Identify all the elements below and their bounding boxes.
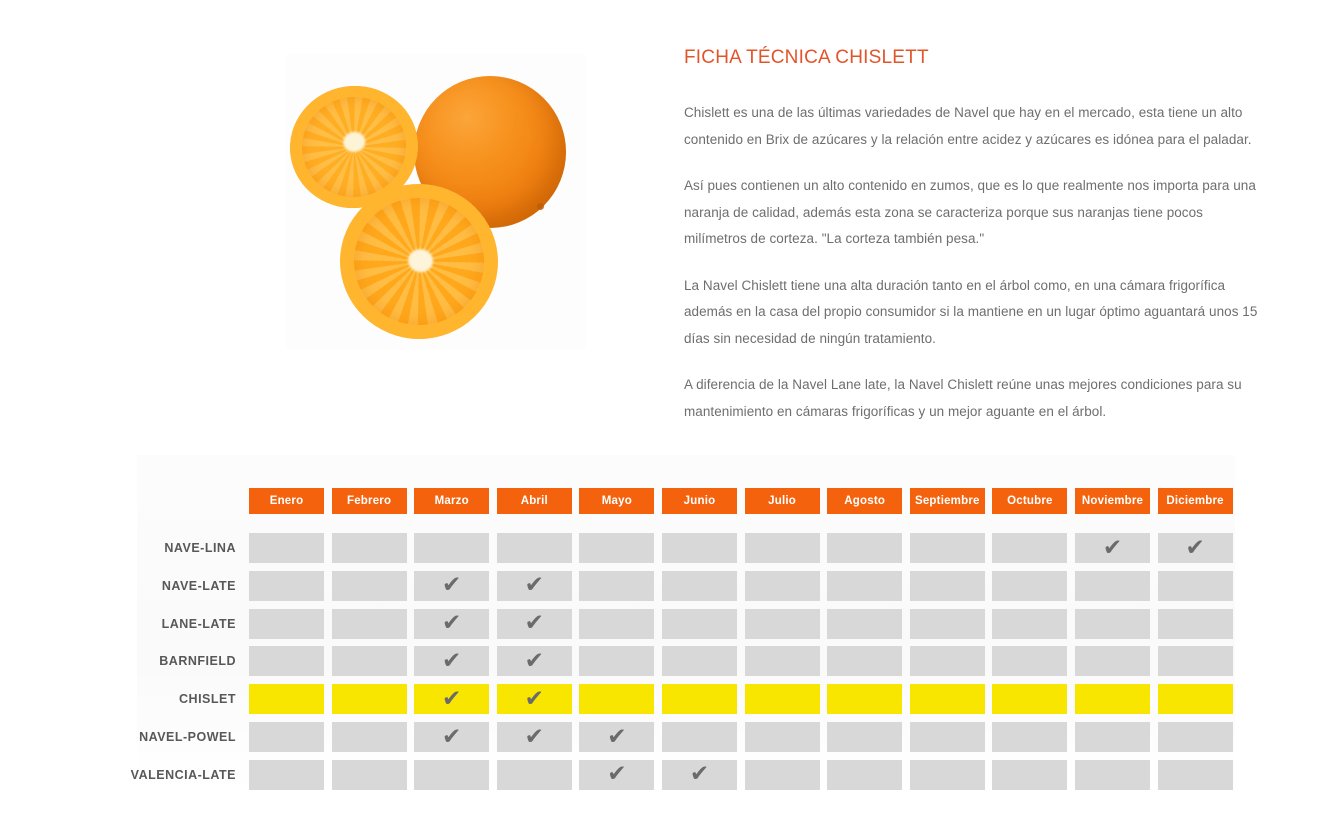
calendar-cell-valencia-late-noviembre[interactable] bbox=[1075, 760, 1150, 790]
calendar-cell-lane-late-diciembre[interactable] bbox=[1158, 609, 1233, 639]
calendar-cell-nave-late-octubre[interactable] bbox=[992, 571, 1067, 601]
month-header-marzo[interactable]: Marzo bbox=[414, 488, 489, 514]
calendar-cell-lane-late-julio[interactable] bbox=[745, 609, 820, 639]
calendar-cell-valencia-late-febrero[interactable] bbox=[332, 760, 407, 790]
calendar-cell-nave-late-abril[interactable]: ✔ bbox=[497, 571, 572, 601]
calendar-cell-nave-lina-noviembre[interactable]: ✔ bbox=[1075, 533, 1150, 563]
calendar-cell-barnfield-septiembre[interactable] bbox=[910, 646, 985, 676]
calendar-cell-nave-late-noviembre[interactable] bbox=[1075, 571, 1150, 601]
calendar-cell-lane-late-octubre[interactable] bbox=[992, 609, 1067, 639]
check-icon: ✔ bbox=[525, 612, 544, 635]
article-paragraph-1: Chislett es una de las últimas variedade… bbox=[684, 100, 1259, 153]
calendar-cell-barnfield-noviembre[interactable] bbox=[1075, 646, 1150, 676]
article-paragraph-4: A diferencia de la Navel Lane late, la N… bbox=[684, 372, 1259, 425]
check-icon: ✔ bbox=[442, 612, 461, 635]
calendar-cell-barnfield-octubre[interactable] bbox=[992, 646, 1067, 676]
variety-label-chislet: CHISLET bbox=[0, 684, 243, 714]
calendar-cell-lane-late-septiembre[interactable] bbox=[910, 609, 985, 639]
variety-label-lane-late: LANE-LATE bbox=[0, 609, 243, 639]
calendar-cell-navel-powel-septiembre[interactable] bbox=[910, 722, 985, 752]
check-icon: ✔ bbox=[442, 688, 461, 711]
calendar-cell-chislet-abril[interactable]: ✔ bbox=[497, 684, 572, 714]
calendar-cell-nave-late-marzo[interactable]: ✔ bbox=[414, 571, 489, 601]
calendar-cell-nave-lina-abril[interactable] bbox=[497, 533, 572, 563]
calendar-cell-nave-lina-marzo[interactable] bbox=[414, 533, 489, 563]
variety-label-nave-lina: NAVE-LINA bbox=[0, 533, 243, 563]
calendar-cell-valencia-late-abril[interactable] bbox=[497, 760, 572, 790]
calendar-cell-chislet-julio[interactable] bbox=[745, 684, 820, 714]
check-icon: ✔ bbox=[525, 574, 544, 597]
calendar-cell-barnfield-marzo[interactable]: ✔ bbox=[414, 646, 489, 676]
variety-label-valencia-late: VALENCIA-LATE bbox=[0, 760, 243, 790]
orange-fruit-image bbox=[286, 54, 586, 349]
calendar-cell-nave-lina-agosto[interactable] bbox=[827, 533, 902, 563]
check-icon: ✔ bbox=[442, 574, 461, 597]
calendar-cell-nave-lina-diciembre[interactable]: ✔ bbox=[1158, 533, 1233, 563]
calendar-cell-barnfield-abril[interactable]: ✔ bbox=[497, 646, 572, 676]
calendar-cell-barnfield-agosto[interactable] bbox=[827, 646, 902, 676]
calendar-cell-nave-lina-mayo[interactable] bbox=[579, 533, 654, 563]
calendar-cell-valencia-late-diciembre[interactable] bbox=[1158, 760, 1233, 790]
calendar-cell-lane-late-abril[interactable]: ✔ bbox=[497, 609, 572, 639]
month-header-octubre[interactable]: Octubre bbox=[992, 488, 1067, 514]
check-icon: ✔ bbox=[525, 688, 544, 711]
calendar-cell-navel-powel-noviembre[interactable] bbox=[1075, 722, 1150, 752]
calendar-cell-chislet-agosto[interactable] bbox=[827, 684, 902, 714]
check-icon: ✔ bbox=[607, 726, 626, 749]
calendar-cell-nave-late-junio[interactable] bbox=[662, 571, 737, 601]
page-title: FICHA TÉCNICA CHISLETT bbox=[684, 46, 1259, 70]
calendar-cell-lane-late-marzo[interactable]: ✔ bbox=[414, 609, 489, 639]
calendar-cell-nave-late-septiembre[interactable] bbox=[910, 571, 985, 601]
calendar-cell-nave-late-julio[interactable] bbox=[745, 571, 820, 601]
calendar-cell-navel-powel-marzo[interactable]: ✔ bbox=[414, 722, 489, 752]
calendar-cell-barnfield-diciembre[interactable] bbox=[1158, 646, 1233, 676]
calendar-cell-lane-late-junio[interactable] bbox=[662, 609, 737, 639]
check-icon: ✔ bbox=[442, 650, 461, 673]
month-header-julio[interactable]: Julio bbox=[745, 488, 820, 514]
check-icon: ✔ bbox=[1185, 537, 1204, 560]
calendar-cell-chislet-junio[interactable] bbox=[662, 684, 737, 714]
calendar-cell-navel-powel-febrero[interactable] bbox=[332, 722, 407, 752]
month-header-mayo[interactable]: Mayo bbox=[579, 488, 654, 514]
calendar-cell-nave-lina-septiembre[interactable] bbox=[910, 533, 985, 563]
calendar-cell-chislet-marzo[interactable]: ✔ bbox=[414, 684, 489, 714]
calendar-cell-navel-powel-mayo[interactable]: ✔ bbox=[579, 722, 654, 752]
calendar-cell-chislet-febrero[interactable] bbox=[332, 684, 407, 714]
month-header-septiembre[interactable]: Septiembre bbox=[910, 488, 985, 514]
calendar-cell-valencia-late-mayo[interactable]: ✔ bbox=[579, 760, 654, 790]
month-header-diciembre[interactable]: Diciembre bbox=[1158, 488, 1233, 514]
calendar-cell-nave-lina-junio[interactable] bbox=[662, 533, 737, 563]
month-header-abril[interactable]: Abril bbox=[497, 488, 572, 514]
check-icon: ✔ bbox=[525, 726, 544, 749]
calendar-cell-barnfield-enero[interactable] bbox=[249, 646, 324, 676]
calendar-cell-barnfield-mayo[interactable] bbox=[579, 646, 654, 676]
article-paragraph-3: La Navel Chislett tiene una alta duració… bbox=[684, 273, 1259, 353]
month-header-agosto[interactable]: Agosto bbox=[827, 488, 902, 514]
calendar-cell-chislet-septiembre[interactable] bbox=[910, 684, 985, 714]
calendar-cell-lane-late-mayo[interactable] bbox=[579, 609, 654, 639]
calendar-cell-lane-late-noviembre[interactable] bbox=[1075, 609, 1150, 639]
calendar-cell-nave-late-enero[interactable] bbox=[249, 571, 324, 601]
check-icon: ✔ bbox=[442, 726, 461, 749]
calendar-cell-nave-lina-octubre[interactable] bbox=[992, 533, 1067, 563]
calendar-cell-chislet-diciembre[interactable] bbox=[1158, 684, 1233, 714]
month-header-noviembre[interactable]: Noviembre bbox=[1075, 488, 1150, 514]
article-text-column: FICHA TÉCNICA CHISLETT Chislett es una d… bbox=[684, 46, 1259, 425]
calendar-cell-valencia-late-enero[interactable] bbox=[249, 760, 324, 790]
month-header-junio[interactable]: Junio bbox=[662, 488, 737, 514]
calendar-cell-nave-lina-julio[interactable] bbox=[745, 533, 820, 563]
calendar-cell-barnfield-febrero[interactable] bbox=[332, 646, 407, 676]
calendar-cell-lane-late-febrero[interactable] bbox=[332, 609, 407, 639]
variety-label-nave-late: NAVE-LATE bbox=[0, 571, 243, 601]
calendar-cell-valencia-late-marzo[interactable] bbox=[414, 760, 489, 790]
calendar-cell-navel-powel-agosto[interactable] bbox=[827, 722, 902, 752]
calendar-cell-valencia-late-julio[interactable] bbox=[745, 760, 820, 790]
calendar-cell-valencia-late-octubre[interactable] bbox=[992, 760, 1067, 790]
calendar-cell-lane-late-agosto[interactable] bbox=[827, 609, 902, 639]
month-header-febrero[interactable]: Febrero bbox=[332, 488, 407, 514]
calendar-cell-navel-powel-diciembre[interactable] bbox=[1158, 722, 1233, 752]
calendar-cell-lane-late-enero[interactable] bbox=[249, 609, 324, 639]
calendar-cell-valencia-late-septiembre[interactable] bbox=[910, 760, 985, 790]
calendar-cell-nave-lina-febrero[interactable] bbox=[332, 533, 407, 563]
availability-calendar: NAVE-LINANAVE-LATELANE-LATEBARNFIELDCHIS… bbox=[0, 455, 1332, 805]
check-icon: ✔ bbox=[690, 763, 709, 786]
calendar-cell-chislet-mayo[interactable] bbox=[579, 684, 654, 714]
check-icon: ✔ bbox=[607, 763, 626, 786]
calendar-cell-navel-powel-abril[interactable]: ✔ bbox=[497, 722, 572, 752]
calendar-cell-nave-late-febrero[interactable] bbox=[332, 571, 407, 601]
orange-navel-dot bbox=[537, 203, 544, 210]
product-intro-section: FICHA TÉCNICA CHISLETT Chislett es una d… bbox=[0, 0, 1332, 420]
calendar-cell-navel-powel-octubre[interactable] bbox=[992, 722, 1067, 752]
calendar-cell-valencia-late-junio[interactable]: ✔ bbox=[662, 760, 737, 790]
check-icon: ✔ bbox=[525, 650, 544, 673]
calendar-cell-chislet-octubre[interactable] bbox=[992, 684, 1067, 714]
calendar-cell-nave-late-mayo[interactable] bbox=[579, 571, 654, 601]
calendar-cell-navel-powel-enero[interactable] bbox=[249, 722, 324, 752]
calendar-cell-chislet-enero[interactable] bbox=[249, 684, 324, 714]
calendar-cell-nave-late-agosto[interactable] bbox=[827, 571, 902, 601]
article-paragraph-2: Así pues contienen un alto contenido en … bbox=[684, 173, 1259, 253]
month-header-enero[interactable]: Enero bbox=[249, 488, 324, 514]
check-icon: ✔ bbox=[1103, 537, 1122, 560]
calendar-cell-valencia-late-agosto[interactable] bbox=[827, 760, 902, 790]
variety-label-barnfield: BARNFIELD bbox=[0, 646, 243, 676]
calendar-cell-navel-powel-junio[interactable] bbox=[662, 722, 737, 752]
calendar-cell-navel-powel-julio[interactable] bbox=[745, 722, 820, 752]
variety-label-navel-powel: NAVEL-POWEL bbox=[0, 722, 243, 752]
calendar-cell-nave-late-diciembre[interactable] bbox=[1158, 571, 1233, 601]
calendar-cell-barnfield-julio[interactable] bbox=[745, 646, 820, 676]
calendar-cell-chislet-noviembre[interactable] bbox=[1075, 684, 1150, 714]
calendar-cell-barnfield-junio[interactable] bbox=[662, 646, 737, 676]
calendar-cell-nave-lina-enero[interactable] bbox=[249, 533, 324, 563]
